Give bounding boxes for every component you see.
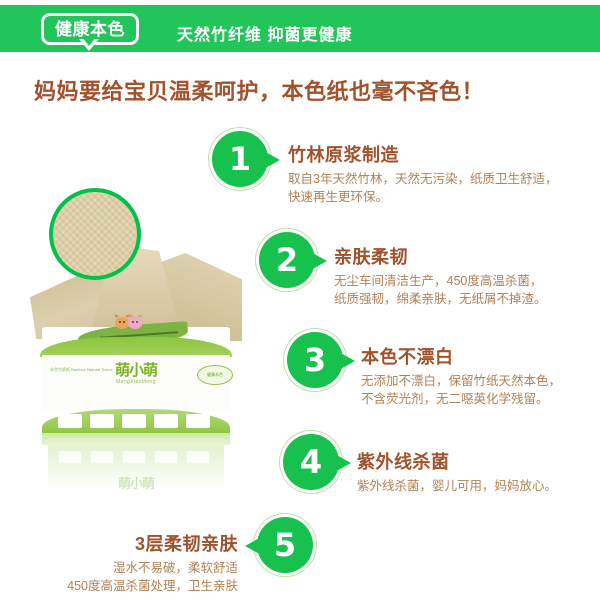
package-green-band — [40, 337, 232, 357]
reflection-icon — [123, 451, 145, 463]
feature-desc-2-line1: 无尘车间清洁生产，450度高温杀菌， — [334, 272, 542, 290]
reflection-icon — [187, 451, 209, 463]
package-feature-icon — [154, 414, 178, 428]
package-seal-badge: 健康本色 — [197, 365, 233, 385]
package-feature-icon — [122, 414, 146, 428]
feature-number-5: 5 — [274, 529, 296, 561]
feature-heading-3: 本色不漂白 — [361, 343, 454, 369]
piglet-mascot-icon — [112, 313, 146, 331]
health-badge-label: 健康本色 — [55, 21, 125, 38]
bubble-tail-icon — [333, 453, 351, 473]
badge-pointer-inner-icon — [82, 37, 96, 46]
page-title: 妈妈要给宝贝温柔呵护，本色纸也毫不吝色！ — [34, 74, 484, 106]
feature-heading-5: 3层柔韧亲肤 — [66, 530, 238, 556]
bubble-tail-icon — [262, 150, 280, 170]
feature-number-1: 1 — [229, 143, 251, 175]
feature-desc-2-line2: 纸质强韧，绵柔亲肤，无纸屑不掉渣。 — [334, 290, 547, 308]
reflection-icon — [91, 451, 113, 463]
package-bottom-edge — [42, 433, 230, 445]
package-feature-icon — [186, 414, 210, 428]
bubble-tail-icon — [337, 351, 355, 371]
texture-zoom-circle — [49, 188, 141, 280]
package-feature-icon — [58, 414, 82, 428]
package-logo-sub: MengXiaoMeng — [90, 379, 182, 386]
package-logo-main: 萌小萌 — [90, 363, 182, 379]
feature-bubble-4: 4 — [283, 434, 339, 490]
feature-number-2: 2 — [276, 244, 298, 276]
feature-bubble-2: 2 — [259, 232, 315, 288]
reflection-icon — [59, 451, 81, 463]
bubble-tail-icon — [309, 251, 327, 271]
feature-heading-2: 亲肤柔韧 — [334, 243, 408, 269]
package-logo: 萌小萌 MengXiaoMeng — [90, 363, 182, 386]
reflection-icon — [155, 451, 177, 463]
feature-heading-4: 紫外线杀菌 — [357, 448, 450, 474]
feature-desc-1-line1: 取自3年天然竹林，天然无污染，纸质卫生舒适， — [288, 170, 557, 188]
bubble-tail-icon — [245, 536, 263, 556]
feature-heading-1: 竹林原浆制造 — [288, 141, 399, 167]
feature-number-4: 4 — [300, 446, 322, 478]
feature-desc-5-line1: 湿水不易破，柔软舒适 — [38, 559, 238, 577]
reflection-logo: 萌小萌 — [90, 473, 182, 492]
feature-number-3: 3 — [304, 344, 326, 376]
feature-desc-1-line2: 快速再生更环保。 — [288, 188, 388, 206]
banner-tagline: 天然竹纤维 抑菌更健康 — [177, 21, 352, 45]
feature-bubble-1: 1 — [212, 131, 268, 187]
package-feature-icon — [90, 414, 114, 428]
feature-desc-3-line1: 无添加不漂白，保留竹纸天然本色， — [361, 372, 561, 390]
feature-desc-3-line2: 不含荧光剂，无二噁英化学残留。 — [361, 390, 549, 408]
feature-bubble-5: 5 — [257, 517, 313, 573]
feature-bubble-3: 3 — [287, 332, 343, 388]
feature-desc-4-line1: 紫外线杀菌，婴儿可用，妈妈放心。 — [357, 477, 557, 495]
feature-desc-5-line2: 450度高温杀菌处理，卫生亲肤 — [38, 577, 238, 595]
